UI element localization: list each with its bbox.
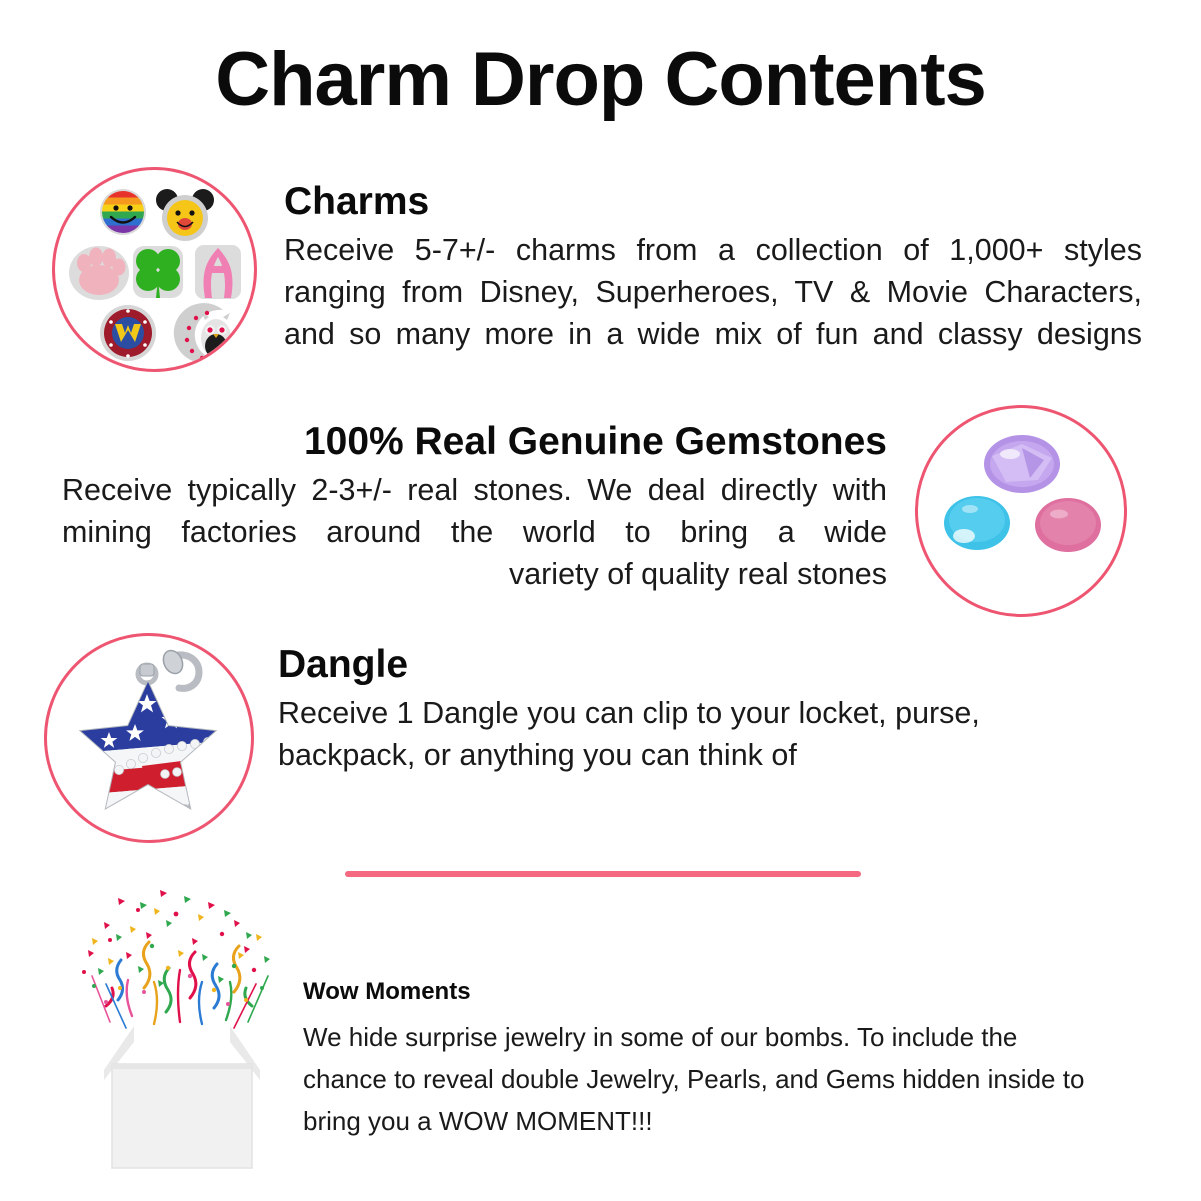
purple-amethyst-oval-gem [984, 435, 1060, 493]
charms-heading: Charms [284, 180, 1142, 225]
pink-rose-oval-gem [1035, 498, 1101, 552]
gemstones-heading: 100% Real Genuine Gemstones [62, 420, 887, 465]
dangle-heading: Dangle [278, 643, 1068, 688]
charms-photo [52, 167, 257, 372]
confetti-dots [82, 890, 270, 1006]
owl-on-crescent-moon-charm [174, 303, 231, 363]
green-four-leaf-clover-charm [133, 246, 183, 298]
rainbow-smiley-face-charm [100, 189, 146, 235]
gift-box [104, 1026, 260, 1168]
wow-moments-section: Wow Moments We hide surprise jewelry in … [303, 978, 1103, 1142]
confetti-box-svg [48, 880, 316, 1170]
wow-moments-body: We hide surprise jewelry in some of our … [303, 1016, 1103, 1142]
gemstones-section: 100% Real Genuine Gemstones Receive typi… [62, 420, 887, 595]
blue-turquoise-oval-gem [944, 496, 1010, 550]
wow-moments-heading: Wow Moments [303, 978, 1103, 1006]
dangle-section: Dangle Receive 1 Dangle you can clip to … [278, 643, 1068, 776]
mickey-mouse-head-charm [156, 189, 214, 241]
gemstones-body: Receive typically 2-3+/- real stones. We… [62, 469, 887, 595]
confetti-box-illustration [48, 880, 316, 1170]
pink-paw-print-charm [69, 246, 129, 300]
charms-illustration [55, 170, 254, 369]
charms-section: Charms Receive 5-7+/- charms from a coll… [284, 180, 1142, 355]
section-divider [345, 871, 861, 877]
gemstones-body-line-2: mining factories around the world to bri… [62, 511, 887, 553]
dangle-illustration [47, 636, 251, 840]
gemstones-body-line-3: variety of quality real stones [62, 553, 887, 595]
pink-awareness-ribbon-charm [195, 245, 241, 299]
gemstones-illustration [918, 408, 1124, 614]
page-title: Charm Drop Contents [0, 38, 1201, 122]
dangle-body: Receive 1 Dangle you can clip to your lo… [278, 692, 1068, 776]
gemstones-body-line-1: Receive typically 2-3+/- real stones. We… [62, 469, 887, 511]
wonder-woman-logo-charm [100, 305, 156, 361]
dangle-photo [44, 633, 254, 843]
charms-body: Receive 5-7+/- charms from a collection … [284, 229, 1142, 355]
gemstones-photo [915, 405, 1127, 617]
american-flag-star-dangle [67, 676, 243, 814]
